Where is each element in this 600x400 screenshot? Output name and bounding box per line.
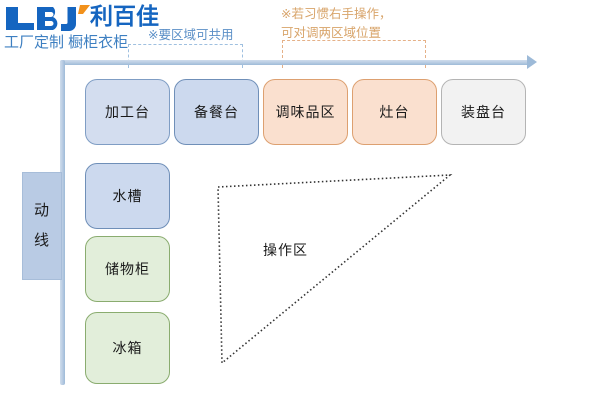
flow-line-top	[60, 60, 530, 65]
bracket-top-line	[128, 44, 243, 45]
flow-arrow-icon	[527, 55, 537, 69]
flow-label-char-1: 动	[34, 196, 50, 226]
work-triangle	[205, 165, 465, 375]
bracket-top-line	[282, 40, 426, 41]
annotation-right-hand: ※若习惯右手操作， 可对调两区域位置	[281, 5, 391, 43]
zone-box-seasoning[interactable]: 调味品区	[263, 79, 348, 145]
zone-box-storage[interactable]: 储物柜	[85, 236, 170, 302]
zone-box-prep[interactable]: 备餐台	[174, 79, 259, 145]
work-zone-label: 操作区	[263, 240, 308, 260]
zone-box-stove[interactable]: 灶台	[352, 79, 437, 145]
zone-box-fridge[interactable]: 冰箱	[85, 312, 170, 384]
lbj-logo-icon	[4, 5, 90, 31]
brand-name: 利百佳	[90, 3, 159, 30]
annotation-shared-zone: ※要区域可共用	[148, 27, 233, 43]
flow-line-label: 动 线	[22, 172, 62, 280]
zone-box-plating[interactable]: 装盘台	[441, 79, 526, 145]
flow-label-char-2: 线	[34, 226, 50, 256]
zone-box-processing[interactable]: 加工台	[85, 79, 170, 145]
zone-box-sink[interactable]: 水槽	[85, 163, 170, 229]
brand-tagline: 工厂定制 橱柜衣柜	[4, 31, 128, 52]
work-triangle-outline	[218, 175, 450, 363]
kitchen-layout-diagram: 利百佳 工厂定制 橱柜衣柜 ※要区域可共用 ※若习惯右手操作， 可对调两区域位置…	[0, 0, 600, 400]
annotation-right-hand-line1: ※若习惯右手操作，	[281, 5, 391, 24]
